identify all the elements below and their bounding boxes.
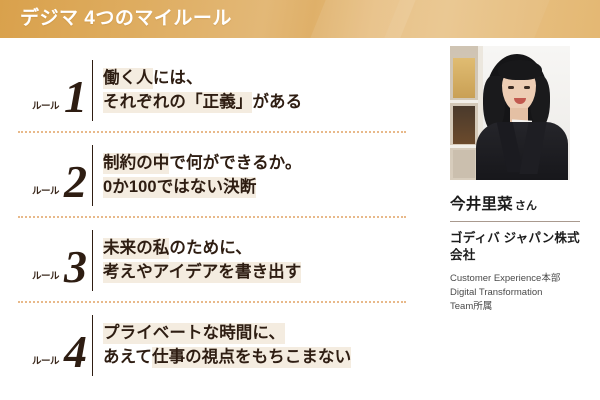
- profile-divider: [450, 221, 580, 222]
- rule-marker: ルール2: [0, 149, 92, 203]
- rule-label: ルール: [32, 98, 59, 118]
- profile-department-line: Team所属: [450, 300, 586, 314]
- rule-text-highlighted: 働く人: [103, 68, 153, 89]
- rule-item: ルール1働く人には、それぞれの「正義」がある: [0, 48, 420, 133]
- rule-number: 4: [59, 332, 86, 372]
- header-bar: デジマ 4つのマイルール: [0, 0, 600, 38]
- photo-shelf-object-3: [453, 150, 475, 178]
- profile-department-line: Customer Experience本部: [450, 272, 586, 286]
- profile-photo: [450, 46, 570, 180]
- rule-text-line: 制約の中で何ができるか。: [103, 153, 420, 174]
- rule-text-plain: あえて: [103, 348, 152, 366]
- rule-number: 2: [59, 162, 86, 202]
- rule-text-highlighted: 考えやアイデアを書き出す: [103, 262, 301, 283]
- rule-text-highlighted: それぞれの「正義」: [103, 92, 252, 113]
- rule-label: ルール: [32, 353, 59, 373]
- profile-department-line: Digital Transformation: [450, 286, 586, 300]
- rule-text-highlighted: 未来の私: [103, 238, 169, 259]
- photo-shelf-object-1: [453, 58, 475, 98]
- rule-text-highlighted: 仕事の視点をもちこまない: [152, 347, 351, 368]
- rule-text-line: あえて仕事の視点をもちこまない: [103, 347, 420, 368]
- rule-text-highlighted: プライベートな時間に、: [103, 323, 285, 344]
- rule-number: 1: [59, 77, 86, 117]
- rule-text-line: 0か100ではない決断: [103, 177, 420, 198]
- rule-item: ルール3未来の私のために、考えやアイデアを書き出す: [0, 218, 420, 303]
- rule-text-plain: がある: [252, 93, 302, 111]
- rule-number: 3: [59, 247, 86, 287]
- rule-text: 制約の中で何ができるか。0か100ではない決断: [93, 153, 420, 198]
- rule-marker: ルール3: [0, 234, 92, 288]
- photo-shelf-divider-2: [450, 145, 478, 148]
- header-sheen-band-1: [302, 0, 424, 38]
- content-area: ルール1働く人には、それぞれの「正義」があるルール2制約の中で何ができるか。0か…: [0, 38, 600, 400]
- profile-name: 今井里菜さん: [450, 192, 586, 214]
- rule-text: 未来の私のために、考えやアイデアを書き出す: [93, 238, 420, 283]
- profile-name-text: 今井里菜: [450, 196, 513, 213]
- rule-text-highlighted: 0か100ではない決断: [103, 177, 256, 198]
- profile-panel: 今井里菜さん ゴディバ ジャパン株式会社 Customer Experience…: [436, 38, 600, 400]
- profile-department: Customer Experience本部Digital Transformat…: [450, 272, 586, 315]
- rule-text-plain: には、: [153, 69, 203, 87]
- rule-text-plain: のために、: [169, 239, 252, 257]
- page-title: デジマ 4つのマイルール: [20, 0, 232, 38]
- rules-list: ルール1働く人には、それぞれの「正義」があるルール2制約の中で何ができるか。0か…: [0, 38, 420, 400]
- rule-marker: ルール4: [0, 319, 92, 373]
- rule-item: ルール2制約の中で何ができるか。0か100ではない決断: [0, 133, 420, 218]
- rule-label: ルール: [32, 268, 59, 288]
- rule-text-line: 考えやアイデアを書き出す: [103, 262, 420, 283]
- photo-shelf-divider-1: [450, 100, 478, 103]
- rule-text-plain: で何ができるか。: [169, 154, 301, 172]
- rule-text-line: それぞれの「正義」がある: [103, 92, 420, 113]
- rule-item: ルール4プライベートな時間に、あえて仕事の視点をもちこまない: [0, 303, 420, 388]
- photo-eye-left: [508, 86, 514, 89]
- profile-company: ゴディバ ジャパン株式会社: [450, 230, 586, 264]
- rule-text-line: 未来の私のために、: [103, 238, 420, 259]
- rule-text-highlighted: 制約の中: [103, 153, 169, 174]
- rule-text-line: 働く人には、: [103, 68, 420, 89]
- header-sheen-band-2: [376, 0, 558, 38]
- photo-shelf-object-2: [453, 106, 475, 144]
- profile-name-honorific: さん: [515, 200, 537, 212]
- rule-text: プライベートな時間に、あえて仕事の視点をもちこまない: [93, 323, 420, 368]
- photo-eye-right: [524, 86, 530, 89]
- rule-label: ルール: [32, 183, 59, 203]
- rule-text-line: プライベートな時間に、: [103, 323, 420, 344]
- photo-bangs: [498, 60, 542, 80]
- rule-text: 働く人には、それぞれの「正義」がある: [93, 68, 420, 113]
- rule-marker: ルール1: [0, 64, 92, 118]
